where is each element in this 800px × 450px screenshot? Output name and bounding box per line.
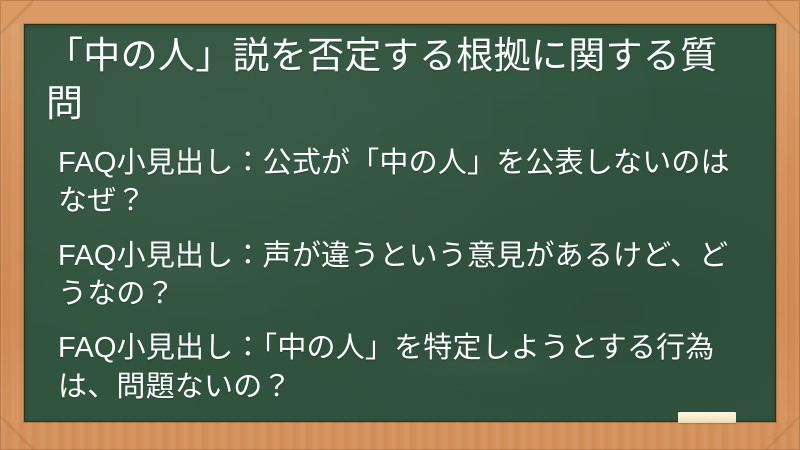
frame-rail-bottom <box>0 422 800 450</box>
page-title: 「中の人」説を否定する根拠に関する質問 <box>44 32 758 128</box>
chalk-stick-icon <box>678 412 736 423</box>
frame-rail-top <box>0 0 800 24</box>
blackboard-slide: 「中の人」説を否定する根拠に関する質問 FAQ小見出し：公式が「中の人」を公表し… <box>0 0 800 450</box>
list-item: FAQ小見出し：声が違うという意見があるけど、どうなの？ <box>58 237 754 314</box>
faq-list: FAQ小見出し：公式が「中の人」を公表しないのはなぜ？ FAQ小見出し：声が違う… <box>44 144 758 406</box>
chalkboard-surface: 「中の人」説を否定する根拠に関する質問 FAQ小見出し：公式が「中の人」を公表し… <box>24 24 776 422</box>
list-item: FAQ小見出し：「中の人」を特定しようとする行為は、問題ないの？ <box>58 329 754 406</box>
list-item: FAQ小見出し：公式が「中の人」を公表しないのはなぜ？ <box>58 144 754 221</box>
chalkboard-content: 「中の人」説を否定する根拠に関する質問 FAQ小見出し：公式が「中の人」を公表し… <box>24 24 776 422</box>
